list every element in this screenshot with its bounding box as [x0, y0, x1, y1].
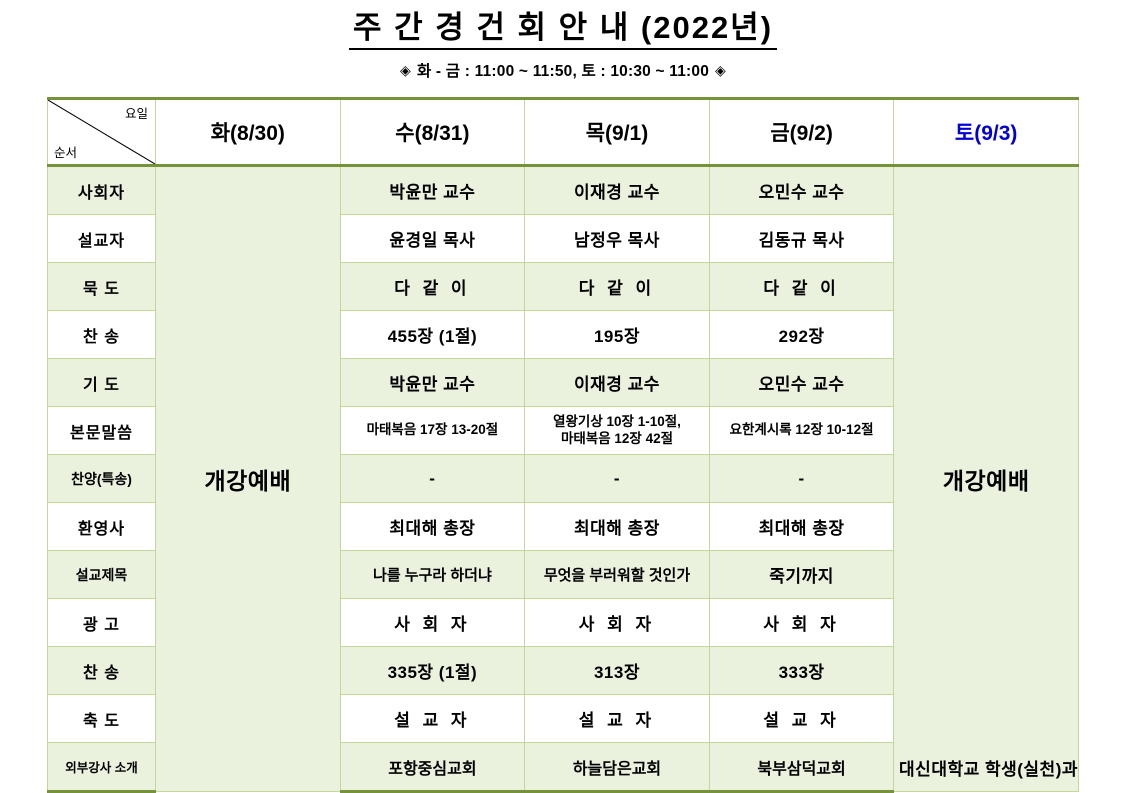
- row-label-guest-speaker: 외부강사 소개: [48, 743, 156, 792]
- cell-thu-guest-speaker: 하늘담은교회: [525, 743, 710, 792]
- row-label-announcement: 광 고: [48, 599, 156, 647]
- special-cell-tuesday: 개강예배: [156, 166, 341, 792]
- day-header-fri: 금(9/2): [709, 99, 894, 166]
- cell-fri-scripture: 요한계시록 12장 10-12절: [709, 407, 894, 455]
- day-header-wed: 수(8/31): [340, 99, 525, 166]
- footer-department: 대신대학교 학생(실천)과: [899, 755, 1078, 780]
- cell-fri-announcement: 사 회 자: [709, 599, 894, 647]
- cell-fri-silent-prayer: 다 같 이: [709, 263, 894, 311]
- cell-wed-hymn-1: 455장 (1절): [340, 311, 525, 359]
- table-header-row: 요일 순서 화(8/30) 수(8/31) 목(9/1) 금(9/2) 토(9/…: [48, 99, 1079, 166]
- row-label-hymn-1: 찬 송: [48, 311, 156, 359]
- corner-order-label: 순서: [54, 142, 77, 161]
- row-label-benediction: 축 도: [48, 695, 156, 743]
- schedule-table: 요일 순서 화(8/30) 수(8/31) 목(9/1) 금(9/2) 토(9/…: [47, 97, 1079, 793]
- cell-wed-benediction: 설 교 자: [340, 695, 525, 743]
- cell-fri-hymn-1: 292장: [709, 311, 894, 359]
- cell-thu-announcement: 사 회 자: [525, 599, 710, 647]
- title-block: 주 간 경 건 회 안 내 (2022년) ◈화 - 금 : 11:00 ~ 1…: [0, 0, 1126, 81]
- row-label-silent-prayer: 묵 도: [48, 263, 156, 311]
- cell-wed-scripture: 마태복음 17장 13-20절: [340, 407, 525, 455]
- cell-wed-moderator: 박윤만 교수: [340, 166, 525, 215]
- diamond-right-icon: ◈: [709, 62, 732, 78]
- table-row: 사회자 개강예배 박윤만 교수 이재경 교수 오민수 교수 개강예배: [48, 166, 1079, 215]
- corner-header-cell: 요일 순서: [48, 99, 156, 166]
- row-label-hymn-2: 찬 송: [48, 647, 156, 695]
- cell-fri-guest-speaker: 북부삼덕교회: [709, 743, 894, 792]
- corner-day-label: 요일: [125, 103, 148, 122]
- row-label-sermon-title: 설교제목: [48, 551, 156, 599]
- subtitle-text: 화 - 금 : 11:00 ~ 11:50, 토 : 10:30 ~ 11:00: [417, 63, 709, 80]
- cell-wed-special-song: -: [340, 455, 525, 503]
- row-label-welcome: 환영사: [48, 503, 156, 551]
- cell-fri-special-song: -: [709, 455, 894, 503]
- cell-wed-announcement: 사 회 자: [340, 599, 525, 647]
- cell-fri-benediction: 설 교 자: [709, 695, 894, 743]
- cell-fri-hymn-2: 333장: [709, 647, 894, 695]
- cell-thu-silent-prayer: 다 같 이: [525, 263, 710, 311]
- cell-thu-moderator: 이재경 교수: [525, 166, 710, 215]
- cell-thu-hymn-1: 195장: [525, 311, 710, 359]
- schedule-table-wrapper: 요일 순서 화(8/30) 수(8/31) 목(9/1) 금(9/2) 토(9/…: [47, 97, 1078, 793]
- cell-thu-hymn-2: 313장: [525, 647, 710, 695]
- schedule-subtitle: ◈화 - 금 : 11:00 ~ 11:50, 토 : 10:30 ~ 11:0…: [0, 59, 1126, 81]
- cell-wed-preacher: 윤경일 목사: [340, 215, 525, 263]
- row-label-special-song: 찬양(특송): [48, 455, 156, 503]
- row-label-preacher: 설교자: [48, 215, 156, 263]
- day-header-sat: 토(9/3): [894, 99, 1079, 166]
- cell-wed-sermon-title: 나를 누구라 하더냐: [340, 551, 525, 599]
- day-header-thu: 목(9/1): [525, 99, 710, 166]
- cell-thu-prayer: 이재경 교수: [525, 359, 710, 407]
- diamond-left-icon: ◈: [394, 62, 417, 78]
- day-header-tue: 화(8/30): [156, 99, 341, 166]
- special-cell-saturday: 개강예배: [894, 166, 1079, 792]
- cell-fri-sermon-title: 죽기까지: [709, 551, 894, 599]
- cell-fri-preacher: 김동규 목사: [709, 215, 894, 263]
- cell-thu-preacher: 남정우 목사: [525, 215, 710, 263]
- cell-fri-welcome: 최대해 총장: [709, 503, 894, 551]
- cell-fri-prayer: 오민수 교수: [709, 359, 894, 407]
- page-title: 주 간 경 건 회 안 내 (2022년): [349, 10, 777, 50]
- cell-fri-moderator: 오민수 교수: [709, 166, 894, 215]
- cell-thu-special-song: -: [525, 455, 710, 503]
- row-label-moderator: 사회자: [48, 166, 156, 215]
- cell-wed-prayer: 박윤만 교수: [340, 359, 525, 407]
- cell-wed-welcome: 최대해 총장: [340, 503, 525, 551]
- cell-wed-silent-prayer: 다 같 이: [340, 263, 525, 311]
- cell-thu-scripture: 열왕기상 10장 1-10절,마태복음 12장 42절: [525, 407, 710, 455]
- cell-thu-welcome: 최대해 총장: [525, 503, 710, 551]
- cell-wed-hymn-2: 335장 (1절): [340, 647, 525, 695]
- row-label-scripture: 본문말씀: [48, 407, 156, 455]
- cell-wed-guest-speaker: 포항중심교회: [340, 743, 525, 792]
- cell-thu-benediction: 설 교 자: [525, 695, 710, 743]
- cell-thu-sermon-title: 무엇을 부러워할 것인가: [525, 551, 710, 599]
- row-label-prayer: 기 도: [48, 359, 156, 407]
